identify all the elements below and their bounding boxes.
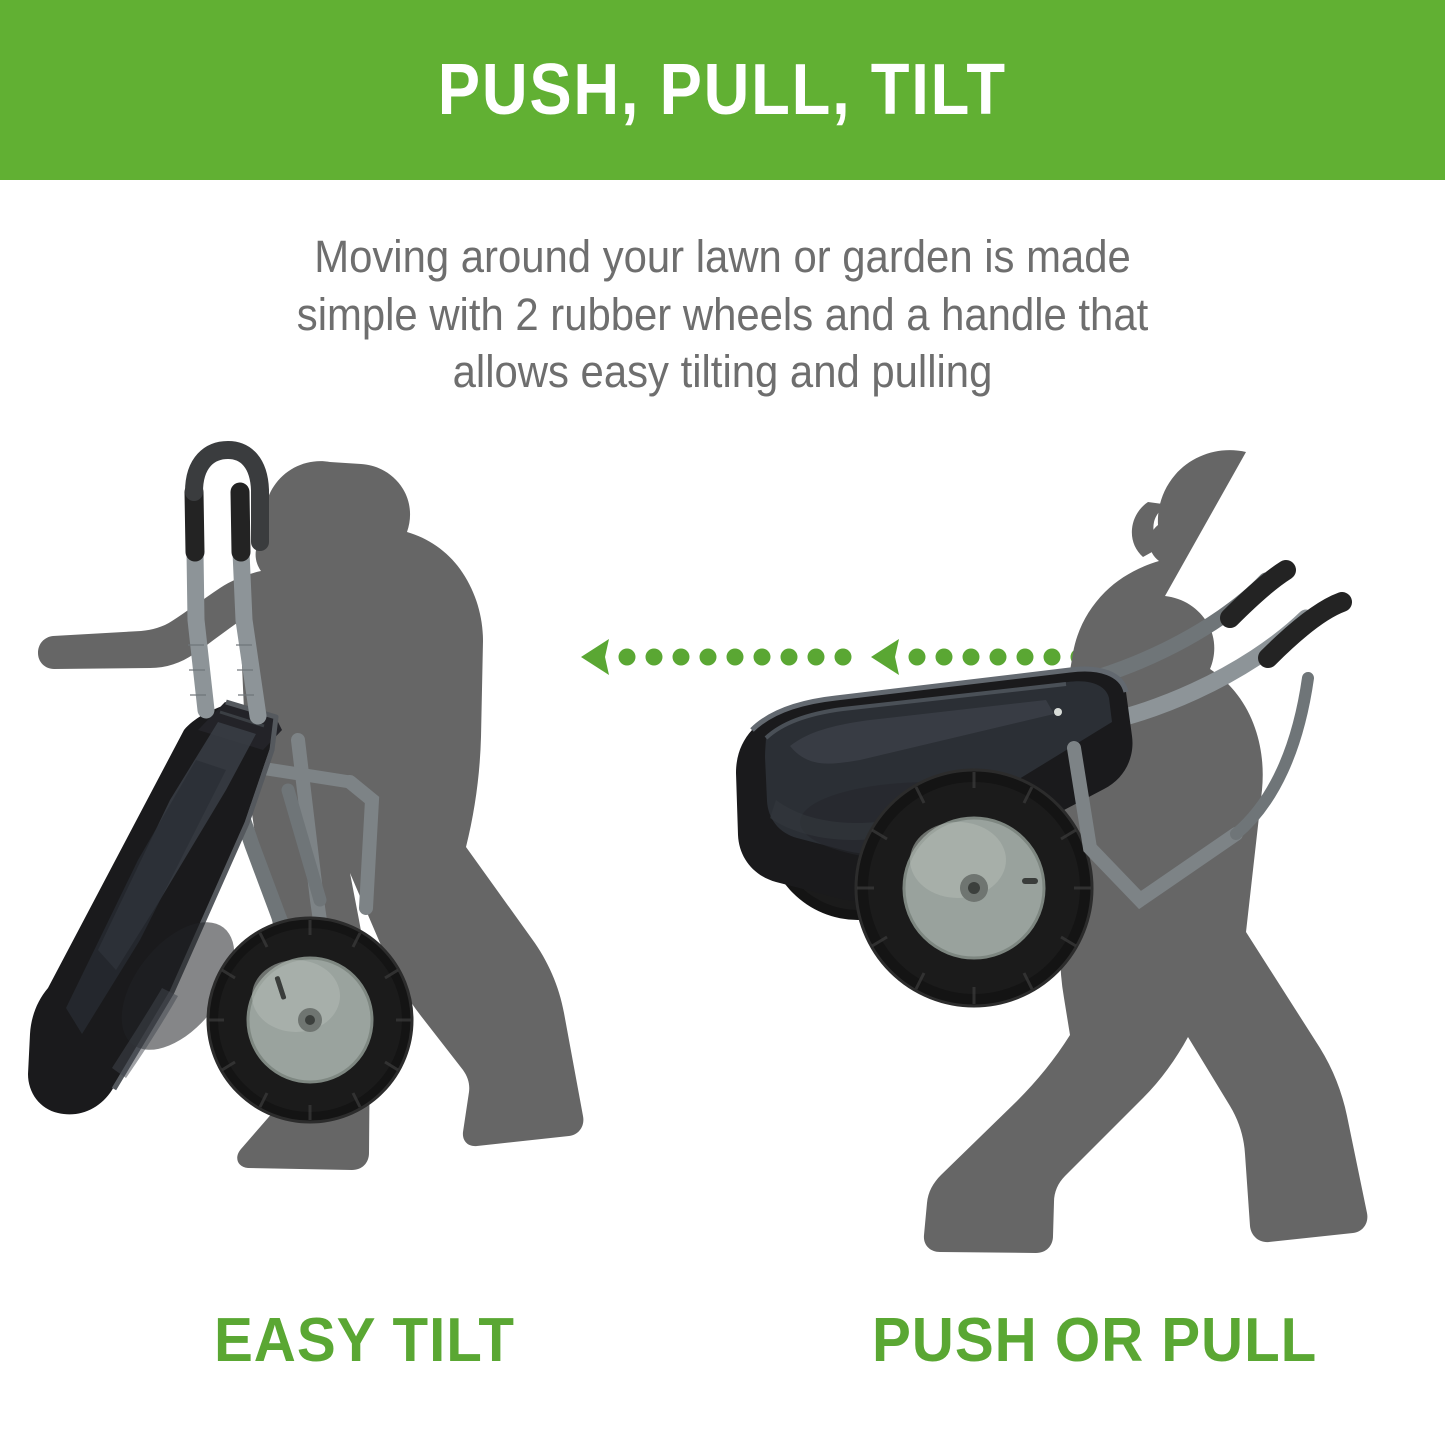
description-text: Moving around your lawn or garden is mad… <box>246 228 1199 401</box>
header-banner: PUSH, PULL, TILT <box>0 0 1445 180</box>
handle-grip-right <box>240 492 241 552</box>
page-title: PUSH, PULL, TILT <box>438 54 1007 126</box>
easy-tilt-scene <box>20 430 640 1260</box>
description-line-2: simple with 2 rubber wheels and a handle… <box>246 286 1199 344</box>
arrowhead-icon-1 <box>581 639 609 675</box>
handle-tube-left <box>195 552 206 710</box>
caption-row: EASY TILT PUSH OR PULL <box>0 1305 1445 1385</box>
description-line-1: Moving around your lawn or garden is mad… <box>246 228 1199 286</box>
handle-grip-left <box>194 492 195 552</box>
push-or-pull-scene <box>670 430 1430 1260</box>
wheel-left-unit <box>208 918 412 1122</box>
description-line-3: allows easy tilting and pulling <box>246 343 1199 401</box>
illustration-stage <box>0 400 1445 1300</box>
wheel-front-unit <box>856 770 1092 1006</box>
caption-easy-tilt: EASY TILT <box>214 1305 515 1376</box>
caption-push-or-pull: PUSH OR PULL <box>872 1305 1317 1376</box>
handle-grip-back <box>1230 570 1286 618</box>
